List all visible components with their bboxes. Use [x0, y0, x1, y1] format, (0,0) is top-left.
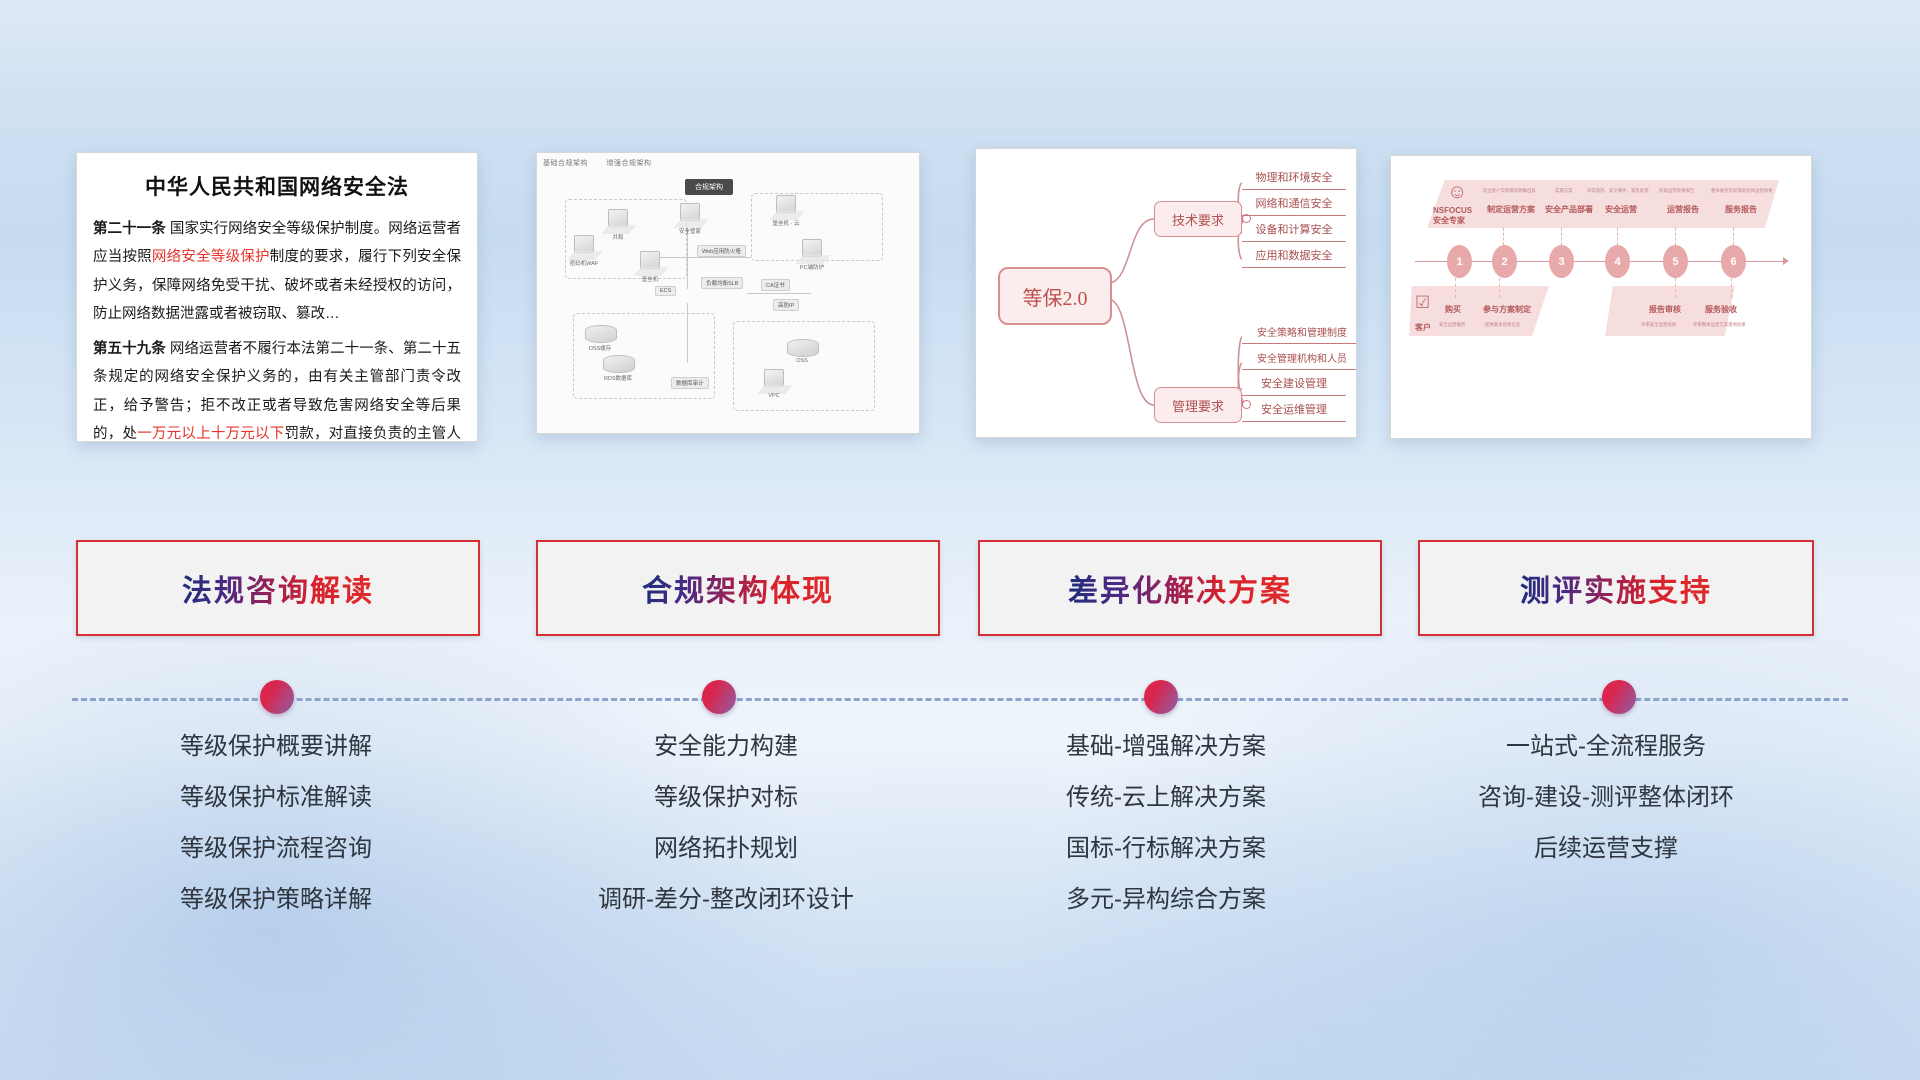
architecture-storage-oss: OSS	[787, 339, 817, 359]
flow-bottom-title-2: 参与方案制定	[1483, 304, 1531, 315]
flow-top-sub-3: 日常巡检、安全事件、紧急处理	[1587, 188, 1648, 194]
architecture-node-0: 共和	[605, 209, 631, 231]
list-item: 等级保护策略详解	[76, 888, 476, 912]
list-item: 国标-行标解决方案	[956, 837, 1376, 861]
architecture-link-3	[687, 303, 688, 363]
detail-column-1: 等级保护概要讲解 等级保护标准解读 等级保护流程咨询 等级保护策略详解	[76, 735, 476, 939]
detail-columns: 等级保护概要讲解 等级保护标准解读 等级保护流程咨询 等级保护策略详解 安全能力…	[0, 735, 1920, 975]
flow-top-title-2: 安全产品部署	[1545, 204, 1593, 215]
architecture-link-2	[687, 227, 688, 289]
service-flow-diagram: ☺ NSFOCUS安全专家 结合客户实际情况明确出具 制定运营方案 实施方案 安…	[1391, 156, 1811, 438]
mindmap-leaf-mgmt-2: 安全建设管理	[1242, 371, 1346, 396]
architecture-chip-ecs: ECS	[655, 286, 676, 296]
architecture-node-5-label: PC端防护	[800, 263, 824, 271]
flow-bottom-title-3: 报告审核	[1649, 304, 1681, 315]
architecture-diagram: 基础合规架构 增强合规架构 合规架构 共和 安全管家 堡垒机 · 云	[537, 153, 919, 433]
mindmap: 等保2.0 技术要求 物理和环境安全 网络和通信安全 设备和计算安全 应用和数据…	[976, 149, 1356, 437]
flow-top-sub-5: 整体服务阶段落地总体运营效果	[1711, 188, 1772, 194]
heading-box-assessment-support[interactable]: 测评实施支持	[1418, 540, 1814, 636]
database-icon	[585, 325, 617, 343]
flow-dash-b1	[1455, 278, 1457, 298]
architecture-chip-ca: CA证书	[761, 279, 790, 291]
architecture-node-3: 密码机WAF	[571, 235, 597, 257]
flow-bottom-title-1: 购买	[1445, 304, 1461, 315]
card-compliance-architecture[interactable]: 基础合规架构 增强合规架构 合规架构 共和 安全管家 堡垒机 · 云	[536, 152, 920, 434]
flow-dash-b2	[1499, 278, 1501, 298]
thumbnail-cards-row: 中华人民共和国网络安全法 第二十一条 国家实行网络安全等级保护制度。网络运营者应…	[0, 0, 1920, 460]
architecture-chip-db-audit: 数据库审计	[671, 377, 709, 389]
list-item: 传统-云上解决方案	[956, 786, 1376, 810]
architecture-node-2-label: 堡垒机 · 云	[773, 219, 800, 227]
mindmap-leaf-mgmt-1: 安全管理机构和人员	[1242, 345, 1357, 370]
flow-step-6[interactable]: 6	[1721, 245, 1746, 278]
flow-top-sub-2: 实施方案	[1555, 188, 1573, 194]
architecture-group-bottom-right	[733, 321, 875, 411]
architecture-chip-waf: Web应用防火墙	[697, 245, 746, 257]
flow-step-4[interactable]: 4	[1605, 245, 1630, 278]
flow-top-title-1: 制定运营方案	[1487, 204, 1535, 215]
architecture-node-4: 堡垒机	[637, 251, 663, 273]
architecture-node-1: 安全管家	[677, 203, 703, 225]
mindmap-root-node[interactable]: 等保2.0	[998, 267, 1112, 325]
list-item: 网络拓扑规划	[516, 837, 936, 861]
heading-box-regulation-consulting[interactable]: 法规咨询解读	[76, 540, 480, 636]
flow-dash-b5	[1675, 278, 1677, 298]
list-item: 一站式-全流程服务	[1396, 735, 1816, 759]
list-item: 安全能力构建	[516, 735, 936, 759]
architecture-storage-oss-cache-label: OSS缓存	[589, 344, 612, 352]
architecture-node-vpc: VPC	[761, 369, 787, 391]
flow-step-1[interactable]: 1	[1447, 245, 1472, 278]
flow-top-title-3: 安全运营	[1605, 204, 1637, 215]
architecture-storage-oss-cache: OSS缓存	[585, 325, 615, 345]
architecture-storage-rds-label: RDS数据库	[604, 374, 632, 382]
heading-label-3: 差异化解决方案	[1068, 566, 1292, 610]
flow-axis-arrow-icon	[1783, 257, 1789, 265]
flow-bottom-sub-2: 提供基本现状信息	[1485, 322, 1520, 328]
heading-box-differentiated-solution[interactable]: 差异化解决方案	[978, 540, 1382, 636]
flow-dash-b6	[1731, 278, 1733, 298]
heading-label-4: 测评实施支持	[1520, 566, 1712, 610]
mindmap-branch-technical[interactable]: 技术要求	[1154, 201, 1242, 237]
law-article-59: 第五十九条 网络运营者不履行本法第二十一条、第二十五条规定的网络安全保护义务的，…	[93, 335, 461, 442]
detail-column-2: 安全能力构建 等级保护对标 网络拓扑规划 调研-差分-整改闭环设计	[516, 735, 936, 939]
architecture-tab-enhanced: 增强合规架构	[606, 160, 651, 167]
architecture-chip-slb: 负载均衡SLB	[701, 277, 743, 289]
law-article-59-number: 第五十九条	[93, 341, 166, 357]
architecture-node-5: PC端防护	[799, 239, 825, 261]
architecture-storage-rds: RDS数据库	[603, 355, 633, 375]
customer-person-icon: ☑	[1415, 294, 1430, 311]
architecture-tab-basic: 基础合规架构	[543, 160, 588, 167]
flow-step-2[interactable]: 2	[1492, 245, 1517, 278]
architecture-node-vpc-label: VPC	[768, 393, 779, 399]
flow-bottom-sub-1: 安全运营服务	[1439, 322, 1465, 328]
flow-top-title-5: 服务报告	[1725, 204, 1757, 215]
list-item: 调研-差分-整改闭环设计	[516, 888, 936, 912]
list-item: 多元-异构综合方案	[956, 888, 1376, 912]
law-article-21: 第二十一条 国家实行网络安全等级保护制度。网络运营者应当按照网络安全等级保护制度…	[93, 215, 461, 328]
architecture-chip-antiddos: 高防IP	[773, 299, 799, 311]
card-mindmap-dengbao[interactable]: 等保2.0 技术要求 物理和环境安全 网络和通信安全 设备和计算安全 应用和数据…	[975, 148, 1357, 438]
mindmap-leaf-tech-3: 应用和数据安全	[1242, 243, 1346, 268]
flow-bottom-sub-4: 评审整体运营方案落地效果	[1693, 322, 1746, 328]
architecture-node-0-label: 共和	[612, 233, 623, 241]
list-item: 咨询-建设-测评整体闭环	[1396, 786, 1816, 810]
list-item: 等级保护对标	[516, 786, 936, 810]
architecture-node-4-label: 堡垒机	[642, 275, 659, 283]
flow-bottom-title-4: 服务验收	[1705, 304, 1737, 315]
law-title: 中华人民共和国网络安全法	[93, 171, 461, 201]
law-article-59-highlight-1: 一万元以上十万元以下	[137, 426, 284, 442]
law-document: 中华人民共和国网络安全法 第二十一条 国家实行网络安全等级保护制度。网络运营者应…	[77, 153, 477, 441]
architecture-link-4	[747, 293, 811, 294]
architecture-tag: 合规架构	[685, 179, 733, 195]
expert-person-icon: ☺	[1447, 182, 1467, 202]
mindmap-leaf-tech-2: 设备和计算安全	[1242, 217, 1346, 242]
flow-step-3[interactable]: 3	[1549, 245, 1574, 278]
list-item: 后续运营支撑	[1396, 837, 1816, 861]
heading-box-compliance-architecture[interactable]: 合规架构体现	[536, 540, 940, 636]
flow-bottom-sub-3: 评审安全运营效果	[1641, 322, 1676, 328]
mindmap-leaf-tech-1: 网络和通信安全	[1242, 191, 1346, 216]
mindmap-leaf-mgmt-0: 安全策略和管理制度	[1242, 319, 1357, 344]
architecture-tabs: 基础合规架构 增强合规架构	[543, 158, 667, 168]
law-article-21-number: 第二十一条	[93, 221, 166, 237]
timeline	[0, 690, 1920, 730]
architecture-node-3-label: 密码机WAF	[570, 259, 599, 267]
detail-column-3: 基础-增强解决方案 传统-云上解决方案 国标-行标解决方案 多元-异构综合方案	[956, 735, 1376, 939]
flow-step-5[interactable]: 5	[1663, 245, 1688, 278]
card-cybersecurity-law[interactable]: 中华人民共和国网络安全法 第二十一条 国家实行网络安全等级保护制度。网络运营者应…	[76, 152, 478, 442]
timeline-dashed-line	[72, 698, 1848, 701]
list-item: 等级保护标准解读	[76, 786, 476, 810]
flow-top-sub-1: 结合客户实际情况明确出具	[1483, 188, 1536, 194]
mindmap-leaf-mgmt-3: 安全运维管理	[1242, 397, 1346, 422]
list-item: 等级保护概要讲解	[76, 735, 476, 759]
database-icon	[603, 355, 635, 373]
card-service-flow[interactable]: ☺ NSFOCUS安全专家 结合客户实际情况明确出具 制定运营方案 实施方案 安…	[1390, 155, 1812, 439]
timeline-dot-4[interactable]	[1602, 680, 1636, 714]
flow-customer-actor: 客户	[1415, 322, 1431, 333]
architecture-storage-oss-label: OSS	[796, 358, 808, 364]
headings-row: 法规咨询解读 合规架构体现 差异化解决方案 测评实施支持	[0, 540, 1920, 650]
architecture-node-1-label: 安全管家	[679, 227, 701, 235]
heading-label-2: 合规架构体现	[642, 566, 834, 610]
list-item: 基础-增强解决方案	[956, 735, 1376, 759]
list-item: 等级保护流程咨询	[76, 837, 476, 861]
timeline-dot-1[interactable]	[260, 680, 294, 714]
mindmap-branch-management[interactable]: 管理要求	[1154, 387, 1242, 423]
flow-top-sub-4: 阶段运营效果报告	[1659, 188, 1694, 194]
timeline-dot-3[interactable]	[1144, 680, 1178, 714]
mindmap-leaf-tech-0: 物理和环境安全	[1242, 165, 1346, 190]
flow-provider-actor: NSFOCUS安全专家	[1433, 206, 1472, 226]
database-icon	[787, 339, 819, 357]
detail-column-4: 一站式-全流程服务 咨询-建设-测评整体闭环 后续运营支撑	[1396, 735, 1816, 888]
heading-label-1: 法规咨询解读	[182, 566, 374, 610]
law-article-21-highlight: 网络安全等级保护	[152, 249, 270, 265]
flow-top-title-4: 运营报告	[1667, 204, 1699, 215]
architecture-node-2: 堡垒机 · 云	[773, 195, 799, 217]
timeline-dot-2[interactable]	[702, 680, 736, 714]
